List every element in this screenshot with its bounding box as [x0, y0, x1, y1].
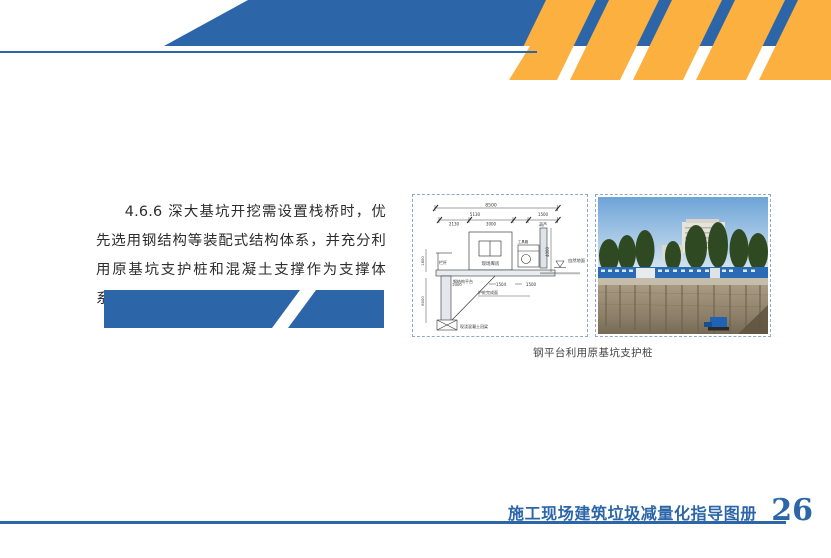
construction-site-photo	[595, 194, 771, 337]
dim-1500-bottom: 1500	[526, 282, 537, 287]
label-toolbox: 工具箱	[518, 239, 529, 244]
drawing-canvas: 8500 5130 2130 3000 1500 现场库房	[415, 197, 585, 334]
footer-title: 施工现场建筑垃圾减量化指导图册	[508, 500, 757, 524]
dim-2130: 2130	[449, 222, 460, 227]
orange-stripe-2	[570, 0, 659, 80]
header-decoration	[0, 0, 831, 80]
dim-1504: 1504	[496, 282, 507, 287]
blue-slash-bar	[104, 290, 384, 328]
footer-page-number: 26	[771, 494, 813, 528]
dim-1500-top: 1500	[538, 212, 549, 217]
page-root: 4.6.6 深大基坑开挖需设置栈桥时，优先选用钢结构等装配式结构体系，并充分利用…	[0, 0, 831, 558]
label-railing: 栏杆	[439, 259, 447, 265]
orange-stripe-3	[633, 0, 722, 80]
orange-stripe-1	[507, 0, 596, 80]
dim-6000: 6000	[421, 296, 425, 306]
dim-3000: 3000	[486, 222, 497, 227]
header-white-wedge	[0, 0, 248, 46]
blue-bar-left-block	[104, 290, 300, 328]
orange-stripe-4	[696, 0, 785, 80]
label-cap-beam: 现浇混凝土冠梁	[460, 323, 488, 329]
header-orange-stripes	[507, 0, 831, 80]
header-lower-white	[0, 46, 530, 80]
dim-5130: 5130	[470, 212, 481, 217]
photo-blue-hoarding	[598, 267, 768, 278]
header-blue-band	[161, 0, 831, 46]
photo-canvas	[598, 197, 768, 334]
figure-row: 8500 5130 2130 3000 1500 现场库房	[412, 194, 774, 337]
figure-caption: 钢平台利用原基坑支护桩	[412, 345, 774, 360]
dim-top-8500: 8500	[485, 203, 497, 209]
dim-1800: 1800	[421, 256, 425, 266]
orange-stripe-5	[759, 0, 831, 80]
platform-deck	[436, 270, 555, 276]
figure-group: 8500 5130 2130 3000 1500 现场库房	[412, 194, 774, 369]
dim-4000: 4000	[545, 246, 550, 257]
header-thin-rule	[0, 51, 537, 53]
photo-pit-cap	[598, 278, 768, 285]
label-pile-face: 护桩完成面	[478, 289, 498, 295]
dim-2000: 2000	[452, 283, 462, 287]
support-pile	[441, 276, 451, 324]
steel-platform-section-drawing: 8500 5130 2130 3000 1500 现场库房	[412, 194, 588, 337]
label-hoist: 葫芦	[539, 221, 547, 227]
blue-bar-right-block	[288, 290, 384, 328]
